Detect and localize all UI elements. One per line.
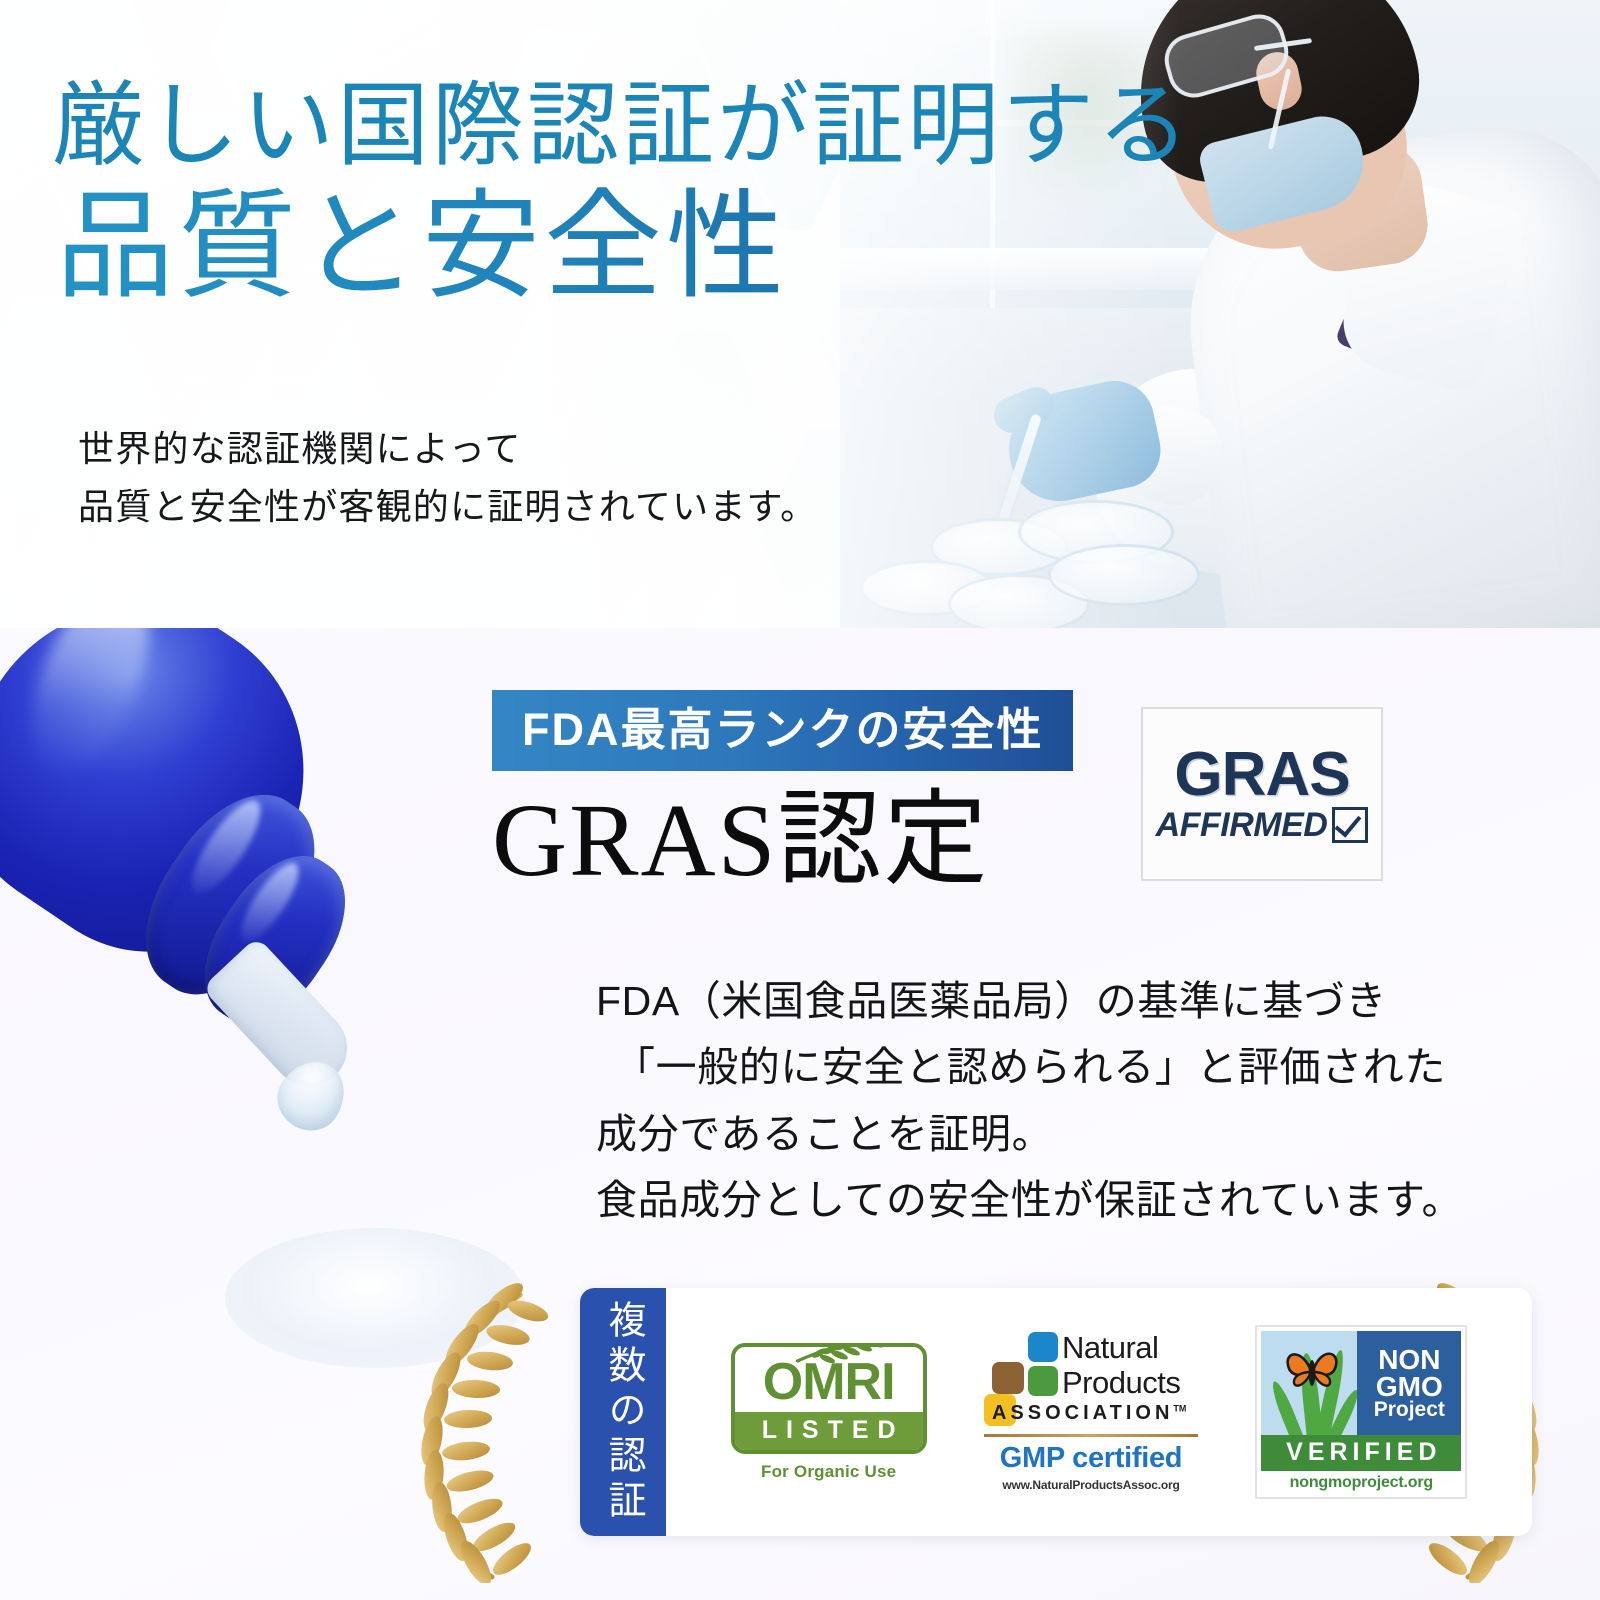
page-title: 厳しい国際認証が証明する 品質と安全性 (52, 78, 1192, 314)
gmo-line-2: GMO (1376, 1373, 1443, 1400)
gras-logo-sub-text: AFFIRMED (1156, 808, 1328, 842)
butterfly-icon (1281, 1345, 1343, 1402)
trademark-icon: TM (1173, 1403, 1186, 1413)
gras-body-line-2: 「一般的に安全と認められる」と評価された (596, 1034, 1463, 1100)
non-gmo-project-logo: NON GMO Project VERIFIED nongmoproject.o… (1255, 1325, 1467, 1499)
gmo-text-panel: NON GMO Project (1357, 1331, 1461, 1435)
hero-section: 厳しい国際認証が証明する 品質と安全性 世界的な認証機関によって 品質と安全性が… (0, 0, 1600, 628)
certification-logo-list: OMRI LISTED For Organic Use Natural Prod… (666, 1288, 1532, 1536)
npa-line-1: Natural (1062, 1330, 1158, 1366)
omri-listed-text: LISTED (735, 1412, 923, 1450)
gras-affirmed-logo: GRAS AFFIRMED (1141, 707, 1383, 881)
subcopy-line-2: 品質と安全性が客観的に証明されています。 (78, 478, 817, 536)
gras-certification-title: GRAS認定 (492, 785, 1073, 897)
gmp-certified-text: GMP certified (984, 1442, 1198, 1475)
omri-listed-logo: OMRI LISTED For Organic Use (731, 1343, 927, 1482)
npa-line-3: ASSOCIATIONTM (992, 1402, 1186, 1425)
npa-gmp-logo: Natural Products ASSOCIATIONTM GMP certi… (984, 1332, 1198, 1492)
npa-url-text: www.NaturalProductsAssoc.org (984, 1478, 1198, 1492)
npa-association-text: ASSOCIATION (992, 1402, 1173, 1424)
gmo-verified-text: VERIFIED (1261, 1435, 1461, 1471)
subcopy-line-1: 世界的な認証機関によって (78, 420, 817, 478)
omri-caption: For Organic Use (731, 1462, 927, 1482)
certification-tab-label: 複数の認証 (580, 1288, 666, 1536)
npa-square-green (1028, 1366, 1058, 1396)
certification-page: 厳しい国際認証が証明する 品質と安全性 世界的な認証機関によって 品質と安全性が… (0, 0, 1600, 1600)
headline-line-1: 厳しい国際認証が証明する (52, 78, 1192, 176)
certification-logos-card: 複数の認証 (580, 1288, 1532, 1536)
cert-tab-text: 複数の認証 (604, 1300, 642, 1525)
gras-description: FDA（米国食品医薬品局）の基準に基づき 「一般的に安全と認められる」と評価され… (596, 968, 1463, 1234)
gras-body-line-3: 成分であることを証明。 (596, 1101, 1463, 1167)
fda-safety-banner: FDA最高ランクの安全性 (492, 690, 1073, 771)
npa-square-brown (992, 1362, 1024, 1394)
headline-line-2: 品質と安全性 (56, 182, 1192, 314)
npa-line-2: Products (1062, 1365, 1180, 1401)
npa-divider (984, 1434, 1198, 1437)
gmo-butterfly-grass-panel (1261, 1331, 1357, 1435)
gmo-line-3: Project (1374, 1400, 1445, 1420)
gmo-line-1: NON (1378, 1346, 1440, 1373)
gras-body-line-4: 食品成分としての安全性が保証されています。 (596, 1167, 1463, 1233)
gras-body-line-1: FDA（米国食品医薬品局）の基準に基づき (596, 968, 1463, 1034)
npa-square-blue (1028, 1332, 1058, 1362)
gras-heading-block: FDA最高ランクの安全性 GRAS認定 (492, 690, 1073, 897)
checkbox-checked-icon (1332, 807, 1368, 843)
gmo-url-text: nongmoproject.org (1261, 1471, 1461, 1493)
laurel-wreath-left-icon (400, 1283, 550, 1583)
wheat-sprig-icon (789, 1343, 893, 1370)
hero-subcopy: 世界的な認証機関によって 品質と安全性が客観的に証明されています。 (78, 420, 817, 537)
gras-logo-main-text: GRAS (1174, 745, 1349, 805)
